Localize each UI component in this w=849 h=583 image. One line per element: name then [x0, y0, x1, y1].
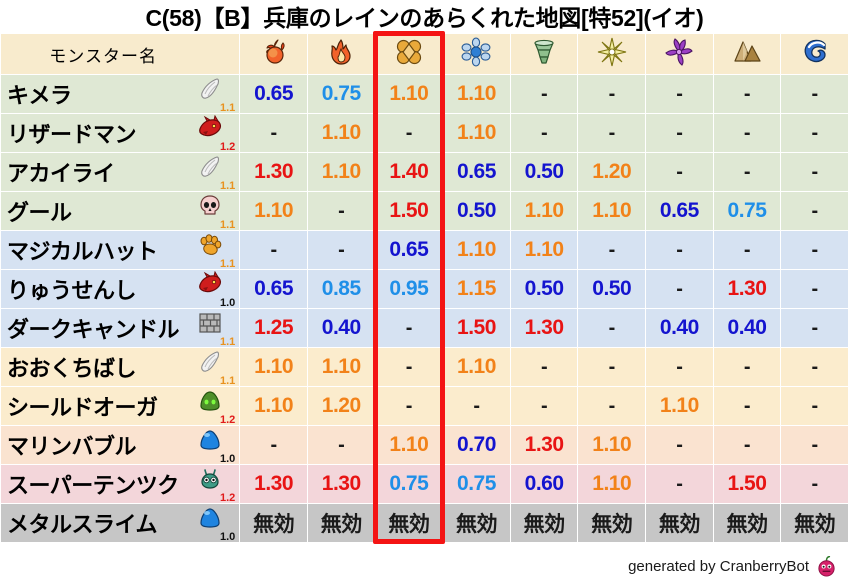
monster-name-cell[interactable]: アカイライ1.1 — [1, 153, 239, 191]
table-row: グール1.11.10-1.500.501.101.100.650.75- — [1, 192, 848, 230]
page-title: C(58)【B】兵庫のレインのあらくれた地図[特52](イオ) — [0, 0, 849, 33]
resistance-cell: - — [781, 348, 848, 386]
resistance-cell: - — [714, 231, 781, 269]
resistance-cell: 0.65 — [240, 270, 307, 308]
monster-type-badge: 1.0 — [191, 271, 235, 307]
resistance-cell: 1.30 — [308, 465, 375, 503]
monster-type-badge: 1.2 — [191, 388, 235, 424]
io-burst-icon — [394, 37, 424, 67]
resistance-cell: - — [308, 192, 375, 230]
table-body: キメラ1.10.650.751.101.10-----リザードマン1.2-1.1… — [1, 75, 848, 542]
resistance-cell: - — [578, 114, 645, 152]
resistance-cell: - — [578, 387, 645, 425]
resistance-cell: 0.65 — [240, 75, 307, 113]
resistance-cell: - — [376, 309, 443, 347]
resistance-cell: - — [240, 231, 307, 269]
monster-type-badge: 1.2 — [191, 466, 235, 502]
resistance-cell: - — [781, 231, 848, 269]
cranberry-icon — [816, 556, 837, 577]
resistance-cell: 1.30 — [240, 153, 307, 191]
table-row: ダークキャンドル1.11.250.40-1.501.30-0.400.40- — [1, 309, 848, 347]
monster-name-label: ダークキャンドル — [7, 312, 179, 344]
resistance-cell: 1.10 — [240, 348, 307, 386]
resistance-cell: 無効 — [443, 504, 510, 542]
monster-name-cell[interactable]: シールドオーガ1.2 — [1, 387, 239, 425]
resistance-cell: 1.20 — [308, 387, 375, 425]
slime-blue-icon — [197, 427, 223, 453]
resistance-cell: 無効 — [308, 504, 375, 542]
monster-multiplier: 1.1 — [220, 376, 235, 387]
resistance-cell: - — [240, 114, 307, 152]
resistance-cell: 1.10 — [308, 114, 375, 152]
resistance-cell: - — [646, 114, 713, 152]
resistance-cell: 1.10 — [443, 75, 510, 113]
resistance-cell: - — [511, 75, 578, 113]
resistance-cell: 1.30 — [511, 426, 578, 464]
wing-icon — [197, 349, 223, 375]
table-row: キメラ1.10.650.751.101.10----- — [1, 75, 848, 113]
resistance-cell: 1.10 — [511, 192, 578, 230]
resistance-cell: 無効 — [511, 504, 578, 542]
table-row: おおくちばし1.11.101.10-1.10----- — [1, 348, 848, 386]
resistance-cell: - — [714, 387, 781, 425]
monster-name-cell[interactable]: おおくちばし1.1 — [1, 348, 239, 386]
monster-name-cell[interactable]: グール1.1 — [1, 192, 239, 230]
monster-multiplier: 1.2 — [220, 415, 235, 426]
monster-name-label: マリンバブル — [7, 429, 136, 461]
monster-name-label: キメラ — [7, 78, 72, 110]
resistance-cell: 無効 — [646, 504, 713, 542]
resistance-cell: - — [646, 270, 713, 308]
resistance-cell: 1.10 — [646, 387, 713, 425]
resistance-cell: 1.10 — [578, 192, 645, 230]
resistance-cell: - — [646, 231, 713, 269]
resistance-cell: 0.65 — [646, 192, 713, 230]
slime-green-icon — [197, 388, 223, 414]
resistance-cell: - — [578, 75, 645, 113]
header-element-dein[interactable] — [578, 34, 645, 74]
fireball-icon — [259, 37, 289, 67]
skull-icon — [197, 193, 223, 219]
flame-icon — [326, 37, 356, 67]
monster-multiplier: 1.1 — [220, 181, 235, 192]
resistance-cell: 無効 — [240, 504, 307, 542]
monster-type-badge: 1.0 — [191, 427, 235, 463]
monster-type-badge: 1.1 — [191, 232, 235, 268]
resistance-cell: - — [646, 426, 713, 464]
monster-name-label: りゅうせんし — [7, 273, 136, 305]
snowflake-icon — [461, 37, 491, 67]
monster-name-cell[interactable]: キメラ1.1 — [1, 75, 239, 113]
table-header-row: モンスター名 — [1, 34, 848, 74]
resistance-cell: - — [781, 309, 848, 347]
table-row: りゅうせんし1.00.650.850.951.150.500.50-1.30- — [1, 270, 848, 308]
monster-name-label: リザードマン — [7, 117, 136, 149]
monster-multiplier: 1.1 — [220, 220, 235, 231]
resistance-cell: 0.75 — [308, 75, 375, 113]
light-star-icon — [597, 37, 627, 67]
resistance-cell: 1.10 — [308, 153, 375, 191]
resistance-cell: 1.30 — [511, 309, 578, 347]
resistance-cell: - — [781, 153, 848, 191]
resistance-cell: - — [781, 270, 848, 308]
monster-name-label: メタルスライム — [7, 507, 157, 539]
resistance-cell: - — [308, 426, 375, 464]
resistance-cell: 1.20 — [578, 153, 645, 191]
resistance-cell: 0.40 — [646, 309, 713, 347]
table-row: マリンバブル1.0--1.100.701.301.10--- — [1, 426, 848, 464]
monster-name-label: おおくちばし — [7, 351, 136, 383]
header-element-mera[interactable] — [240, 34, 307, 74]
header-element-bagi[interactable] — [511, 34, 578, 74]
resistance-cell: - — [714, 153, 781, 191]
monster-name-label: グール — [7, 195, 72, 227]
resistance-cell: 0.65 — [443, 153, 510, 191]
resistance-cell: 無効 — [714, 504, 781, 542]
resistance-cell: 無効 — [781, 504, 848, 542]
resistance-cell: - — [646, 348, 713, 386]
table-row: リザードマン1.2-1.10-1.10----- — [1, 114, 848, 152]
resistance-cell: - — [511, 387, 578, 425]
resistance-cell: 1.10 — [240, 192, 307, 230]
wave-icon — [800, 37, 830, 67]
resistance-cell: - — [240, 426, 307, 464]
resistance-cell: - — [308, 231, 375, 269]
resistance-cell: - — [376, 114, 443, 152]
resistance-cell: 無効 — [376, 504, 443, 542]
resistance-cell: - — [781, 75, 848, 113]
resistance-cell: 0.70 — [443, 426, 510, 464]
paw-icon — [197, 232, 223, 258]
table-row: アカイライ1.11.301.101.400.650.501.20--- — [1, 153, 848, 191]
resistance-cell: - — [714, 348, 781, 386]
resistance-cell: - — [646, 75, 713, 113]
resistance-cell: - — [646, 465, 713, 503]
resistance-chart-page: C(58)【B】兵庫のレインのあらくれた地図[特52](イオ) モンスター名 — [0, 0, 849, 583]
resistance-cell: 0.75 — [376, 465, 443, 503]
monster-type-badge: 1.1 — [191, 76, 235, 112]
header-element-dorma[interactable] — [646, 34, 713, 74]
monster-multiplier: 1.0 — [220, 454, 235, 465]
resistance-cell: 無効 — [578, 504, 645, 542]
monster-name-label: アカイライ — [7, 156, 115, 188]
resistance-cell: 1.10 — [376, 75, 443, 113]
bug-icon — [197, 466, 223, 492]
resistance-cell: 1.50 — [376, 192, 443, 230]
monster-multiplier: 1.1 — [220, 103, 235, 114]
slime-blue-icon — [197, 505, 223, 531]
resistance-cell: 1.30 — [240, 465, 307, 503]
monster-name-label: スーパーテンツク — [7, 468, 179, 500]
monster-name-cell[interactable]: りゅうせんし1.0 — [1, 270, 239, 308]
table-row: マジカルハット1.1--0.651.101.10---- — [1, 231, 848, 269]
monster-name-cell[interactable]: マジカルハット1.1 — [1, 231, 239, 269]
resistance-cell: 1.10 — [578, 426, 645, 464]
resistance-cell: - — [714, 114, 781, 152]
resistance-cell: - — [511, 114, 578, 152]
resistance-cell: - — [714, 75, 781, 113]
header-element-mahyado[interactable] — [781, 34, 848, 74]
resistance-cell: 1.10 — [511, 231, 578, 269]
header-element-hyado[interactable] — [443, 34, 510, 74]
resistance-cell: - — [578, 309, 645, 347]
monster-name-label: マジカルハット — [7, 234, 158, 266]
resistance-cell: 1.15 — [443, 270, 510, 308]
resistance-cell: 0.40 — [308, 309, 375, 347]
resistance-table: モンスター名 — [0, 33, 849, 543]
monster-name-label: シールドオーガ — [7, 390, 158, 422]
monster-name-cell[interactable]: マリンバブル1.0 — [1, 426, 239, 464]
monster-multiplier: 1.0 — [220, 298, 235, 309]
monster-type-badge: 1.1 — [191, 349, 235, 385]
resistance-table-wrap: モンスター名 — [0, 33, 849, 543]
header-monster-name: モンスター名 — [1, 34, 239, 74]
resistance-cell: - — [376, 348, 443, 386]
resistance-cell: - — [511, 348, 578, 386]
resistance-cell: 0.95 — [376, 270, 443, 308]
resistance-cell: 0.50 — [511, 153, 578, 191]
table-row: スーパーテンツク1.21.301.300.750.750.601.10-1.50… — [1, 465, 848, 503]
resistance-cell: 1.10 — [240, 387, 307, 425]
footer-label: generated by CranberryBot — [628, 558, 809, 575]
resistance-cell: 1.10 — [443, 348, 510, 386]
resistance-cell: - — [376, 387, 443, 425]
resistance-cell: 0.75 — [714, 192, 781, 230]
dragon-icon — [197, 271, 223, 297]
table-row: シールドオーガ1.21.101.20----1.10-- — [1, 387, 848, 425]
resistance-cell: 1.50 — [443, 309, 510, 347]
resistance-cell: 0.50 — [578, 270, 645, 308]
monster-multiplier: 1.2 — [220, 142, 235, 153]
resistance-cell: - — [443, 387, 510, 425]
resistance-cell: 1.10 — [376, 426, 443, 464]
monster-name-cell[interactable]: リザードマン1.2 — [1, 114, 239, 152]
header-element-io[interactable] — [376, 34, 443, 74]
brick-icon — [197, 310, 223, 336]
resistance-cell: 1.10 — [578, 465, 645, 503]
resistance-cell: - — [781, 465, 848, 503]
resistance-cell: 0.50 — [511, 270, 578, 308]
monster-type-badge: 1.1 — [191, 154, 235, 190]
resistance-cell: 1.10 — [443, 231, 510, 269]
resistance-cell: 0.75 — [443, 465, 510, 503]
resistance-cell: - — [578, 348, 645, 386]
resistance-cell: - — [781, 114, 848, 152]
resistance-cell: 1.50 — [714, 465, 781, 503]
wing-icon — [197, 154, 223, 180]
resistance-cell: 0.40 — [714, 309, 781, 347]
monster-name-cell[interactable]: ダークキャンドル1.1 — [1, 309, 239, 347]
header-element-gira[interactable] — [308, 34, 375, 74]
monster-multiplier: 1.0 — [220, 532, 235, 543]
resistance-cell: 0.60 — [511, 465, 578, 503]
dark-swirl-icon — [664, 37, 694, 67]
monster-type-badge: 1.2 — [191, 115, 235, 151]
monster-multiplier: 1.2 — [220, 493, 235, 504]
resistance-cell: 1.10 — [443, 114, 510, 152]
resistance-cell: - — [646, 153, 713, 191]
header-element-jiwaria[interactable] — [714, 34, 781, 74]
monster-name-cell[interactable]: スーパーテンツク1.2 — [1, 465, 239, 503]
resistance-cell: 1.30 — [714, 270, 781, 308]
resistance-cell: 1.25 — [240, 309, 307, 347]
mountain-icon — [732, 37, 762, 67]
monster-type-badge: 1.1 — [191, 193, 235, 229]
resistance-cell: - — [714, 426, 781, 464]
tornado-icon — [529, 37, 559, 67]
resistance-cell: 0.65 — [376, 231, 443, 269]
resistance-cell: - — [781, 426, 848, 464]
resistance-cell: 1.40 — [376, 153, 443, 191]
dragon-icon — [197, 115, 223, 141]
monster-type-badge: 1.1 — [191, 310, 235, 346]
wing-icon — [197, 76, 223, 102]
footer: generated by CranberryBot — [628, 556, 837, 577]
header-monster-name-label: モンスター名 — [49, 42, 191, 67]
resistance-cell: - — [781, 192, 848, 230]
monster-multiplier: 1.1 — [220, 259, 235, 270]
resistance-cell: 1.10 — [308, 348, 375, 386]
monster-type-badge: 1.0 — [191, 505, 235, 541]
resistance-cell: - — [578, 231, 645, 269]
resistance-cell: - — [781, 387, 848, 425]
resistance-cell: 0.50 — [443, 192, 510, 230]
table-row: メタルスライム1.0無効無効無効無効無効無効無効無効無効 — [1, 504, 848, 542]
monster-multiplier: 1.1 — [220, 337, 235, 348]
monster-name-cell[interactable]: メタルスライム1.0 — [1, 504, 239, 542]
resistance-cell: 0.85 — [308, 270, 375, 308]
